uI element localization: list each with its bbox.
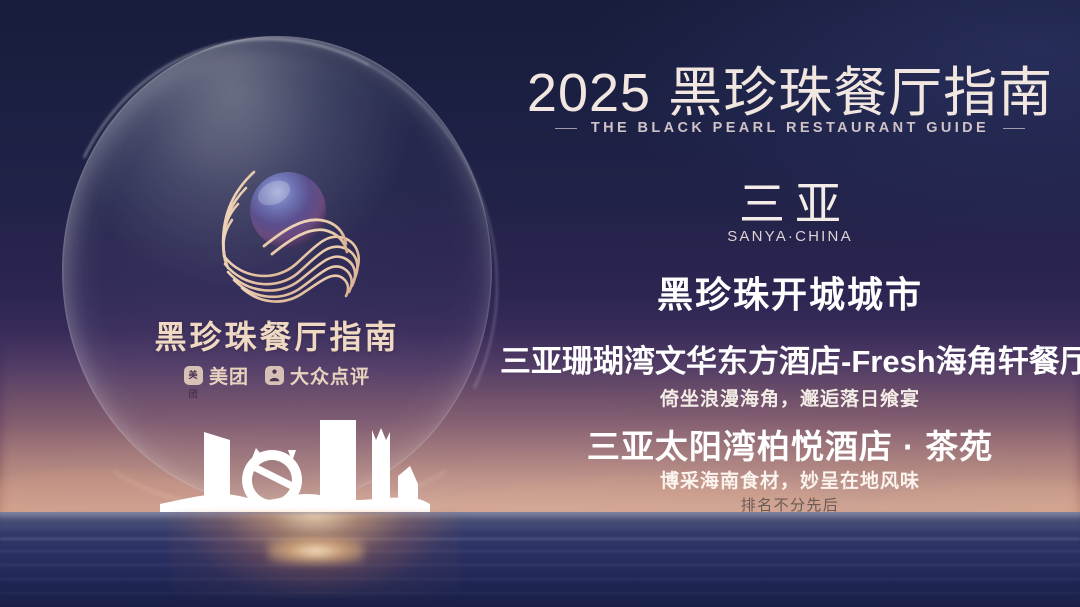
partner-label-dianping: 大众点评 (290, 362, 370, 389)
logo-brand-text: 黑珍珠餐厅指南 (62, 312, 492, 358)
sun-glint (268, 538, 364, 564)
city-name-chinese: 三亚 (500, 168, 1080, 234)
title-chinese: 黑珍珠餐厅指南 (668, 63, 1053, 123)
city-name-english: SANYA·CHINA (500, 228, 1080, 245)
dianping-chip-icon (265, 366, 284, 385)
restaurant-tagline-1: 倚坐浪漫海角，邂逅落日飨宴 (500, 384, 1080, 411)
restaurant-name-1: 三亚珊瑚湾文华东方酒店-Fresh海角轩餐厅 (500, 336, 1080, 381)
poster-title: 2025 黑珍珠餐厅指南 (500, 48, 1080, 127)
sanya-skyline-icon (160, 414, 430, 514)
partner-badges: 美团 美团 大众点评 (62, 362, 492, 389)
partner-label-meituan: 美团 (209, 362, 249, 389)
restaurant-tagline-2: 博采海南食材，妙呈在地风味 (500, 466, 1080, 493)
poster-root: 黑珍珠餐厅指南 美团 美团 大众点评 (0, 0, 1080, 607)
partner-badge-dianping: 大众点评 (265, 362, 370, 389)
dash-right-icon (1003, 128, 1025, 129)
dash-left-icon (555, 128, 577, 129)
black-pearl-logo-icon (168, 160, 400, 310)
pearl-sphere-icon (250, 172, 326, 248)
ranking-footnote: 排名不分先后 (500, 494, 1080, 515)
partner-badge-meituan: 美团 美团 (184, 362, 249, 389)
subtitle-english: THE BLACK PEARL RESTAURANT GUIDE (591, 120, 989, 136)
poster-subtitle: THE BLACK PEARL RESTAURANT GUIDE (500, 120, 1080, 136)
section-heading: 黑珍珠开城城市 (500, 266, 1080, 318)
content-column: 2025 黑珍珠餐厅指南 THE BLACK PEARL RESTAURANT … (500, 0, 1080, 607)
restaurant-name-2: 三亚太阳湾柏悦酒店 · 茶苑 (500, 420, 1080, 468)
meituan-chip-icon: 美团 (184, 366, 203, 385)
title-year: 2025 (527, 63, 651, 123)
